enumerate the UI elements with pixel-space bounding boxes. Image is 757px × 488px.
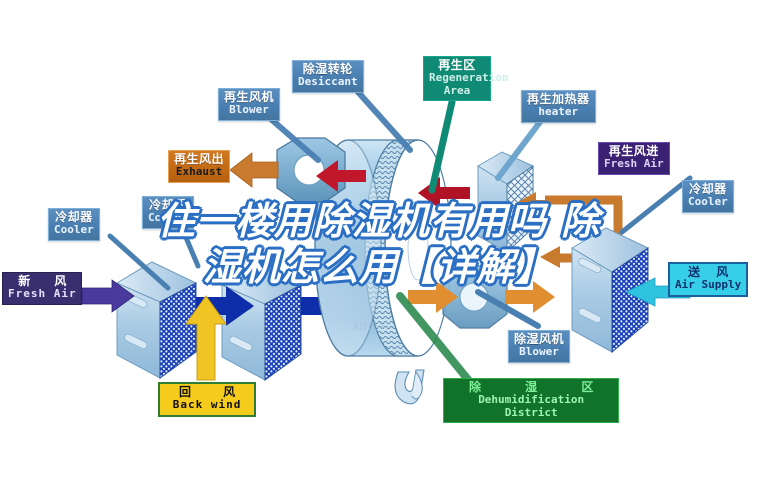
label-regen-exhaust-cn: 再生风出 — [174, 153, 224, 166]
label-dehum-district-en1: Dehumidification — [449, 394, 613, 406]
label-dehum-blower-en: Blower — [514, 346, 564, 358]
label-cooler-right-cn: 冷却器 — [688, 183, 728, 196]
label-regen-fresh-air-en: Fresh Air — [604, 158, 664, 170]
label-regen-blower: 再生风机 Blower — [218, 88, 280, 121]
label-desiccant-wheel-cn: 除湿转轮 — [298, 63, 358, 76]
label-air-supply-cn: 送 风 — [675, 266, 741, 279]
label-dehum-district-cn: 除 湿 区 — [449, 381, 613, 394]
label-regeneration-area-en: Regeneration Area — [429, 72, 485, 97]
label-regen-blower-en: Blower — [224, 104, 274, 116]
label-cooler-right-en: Cooler — [688, 196, 728, 208]
label-cooler-left-1-en: Cooler — [54, 224, 94, 236]
drain-tray — [395, 370, 424, 404]
label-back-wind-en: Back wind — [165, 399, 249, 411]
label-dehum-blower-cn: 除湿风机 — [514, 333, 564, 346]
label-desiccant-wheel-en: Desiccant — [298, 76, 358, 88]
label-regen-heater-cn: 再生加热器 — [527, 93, 590, 106]
label-regen-exhaust: 再生风出 Exhaust — [168, 150, 230, 183]
label-back-wind: 回 风 Back wind — [158, 382, 256, 417]
label-regen-heater: 再生加热器 heater — [521, 90, 596, 123]
label-regen-fresh-air: 再生风进 Fresh Air — [598, 142, 670, 175]
cooler-unit-2 — [222, 264, 301, 380]
label-regeneration-area: 再生区 Regeneration Area — [423, 56, 491, 101]
label-air-supply: 送 风 Air Supply — [668, 262, 748, 297]
dehumidifier-schematic-svg: XINGYI — [0, 0, 757, 488]
label-regen-heater-en: heater — [527, 106, 590, 118]
label-regen-fresh-air-cn: 再生风进 — [604, 145, 664, 158]
label-cooler-left-1-cn: 冷却器 — [54, 211, 94, 224]
label-cooler-left-2-en: Cooler — [148, 212, 188, 224]
diagram-canvas: XINGYI 除湿转轮 Desiccant 再生风机 Blower 再生风出 E… — [0, 0, 757, 488]
label-regeneration-area-cn: 再生区 — [429, 59, 485, 72]
label-cooler-right: 冷却器 Cooler — [682, 180, 734, 213]
wheel-watermark-text: XINGYI — [352, 320, 389, 333]
label-regen-exhaust-en: Exhaust — [174, 166, 224, 178]
label-regen-blower-cn: 再生风机 — [224, 91, 274, 104]
label-air-supply-en: Air Supply — [675, 279, 741, 291]
label-back-wind-cn: 回 风 — [165, 386, 249, 399]
label-dehum-district-en2: District — [449, 407, 613, 419]
label-fresh-air-in-cn: 新 风 — [8, 275, 77, 288]
label-dehum-blower: 除湿风机 Blower — [508, 330, 570, 363]
label-cooler-left-2-cn: 冷却器 — [148, 199, 188, 212]
label-fresh-air-in: 新 风 Fresh Air — [2, 272, 82, 305]
label-dehum-district: 除 湿 区 Dehumidification District — [443, 378, 619, 423]
label-desiccant-wheel: 除湿转轮 Desiccant — [292, 60, 364, 93]
label-cooler-left-2: 冷却器 Cooler — [142, 196, 194, 229]
label-fresh-air-in-en: Fresh Air — [8, 288, 77, 300]
arrow-regen-exhaust — [230, 153, 278, 187]
label-cooler-left-1: 冷却器 Cooler — [48, 208, 100, 241]
